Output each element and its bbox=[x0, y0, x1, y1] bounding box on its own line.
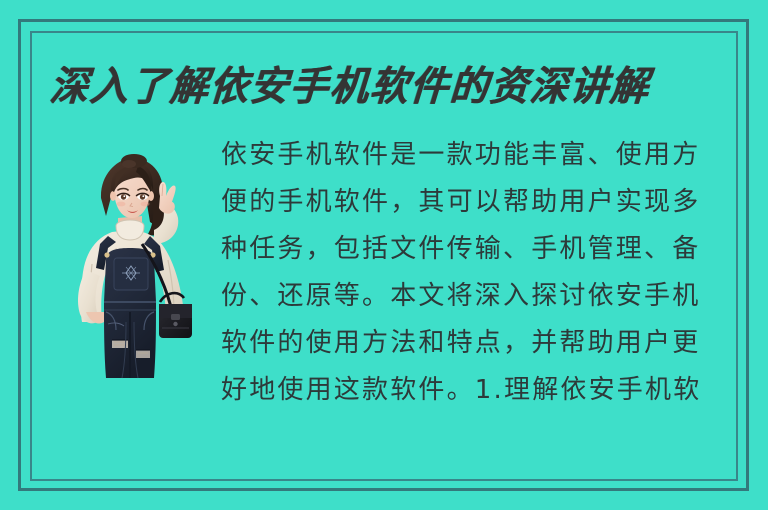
body-line: 份、还原等。本文将深入探讨依安手机 bbox=[221, 273, 741, 320]
body-line: 种任务，包括文件传输、手机管理、备 bbox=[221, 226, 741, 273]
illustration-figure bbox=[56, 152, 206, 393]
poster-canvas: 深入了解依安手机软件的资深讲解 bbox=[0, 0, 768, 510]
body-line: 好地使用这款软件。1.理解依安手机软 bbox=[221, 367, 741, 414]
body-line: 便的手机软件，其可以帮助用户实现多 bbox=[221, 179, 741, 226]
body-line: 软件的使用方法和特点，并帮助用户更 bbox=[221, 320, 741, 367]
page-title: 深入了解依安手机软件的资深讲解 bbox=[48, 56, 712, 115]
body-copy: 依安手机软件是一款功能丰富、使用方 便的手机软件，其可以帮助用户实现多 种任务，… bbox=[221, 132, 741, 414]
body-line: 依安手机软件是一款功能丰富、使用方 bbox=[221, 132, 741, 179]
anime-girl-illustration bbox=[56, 152, 206, 393]
